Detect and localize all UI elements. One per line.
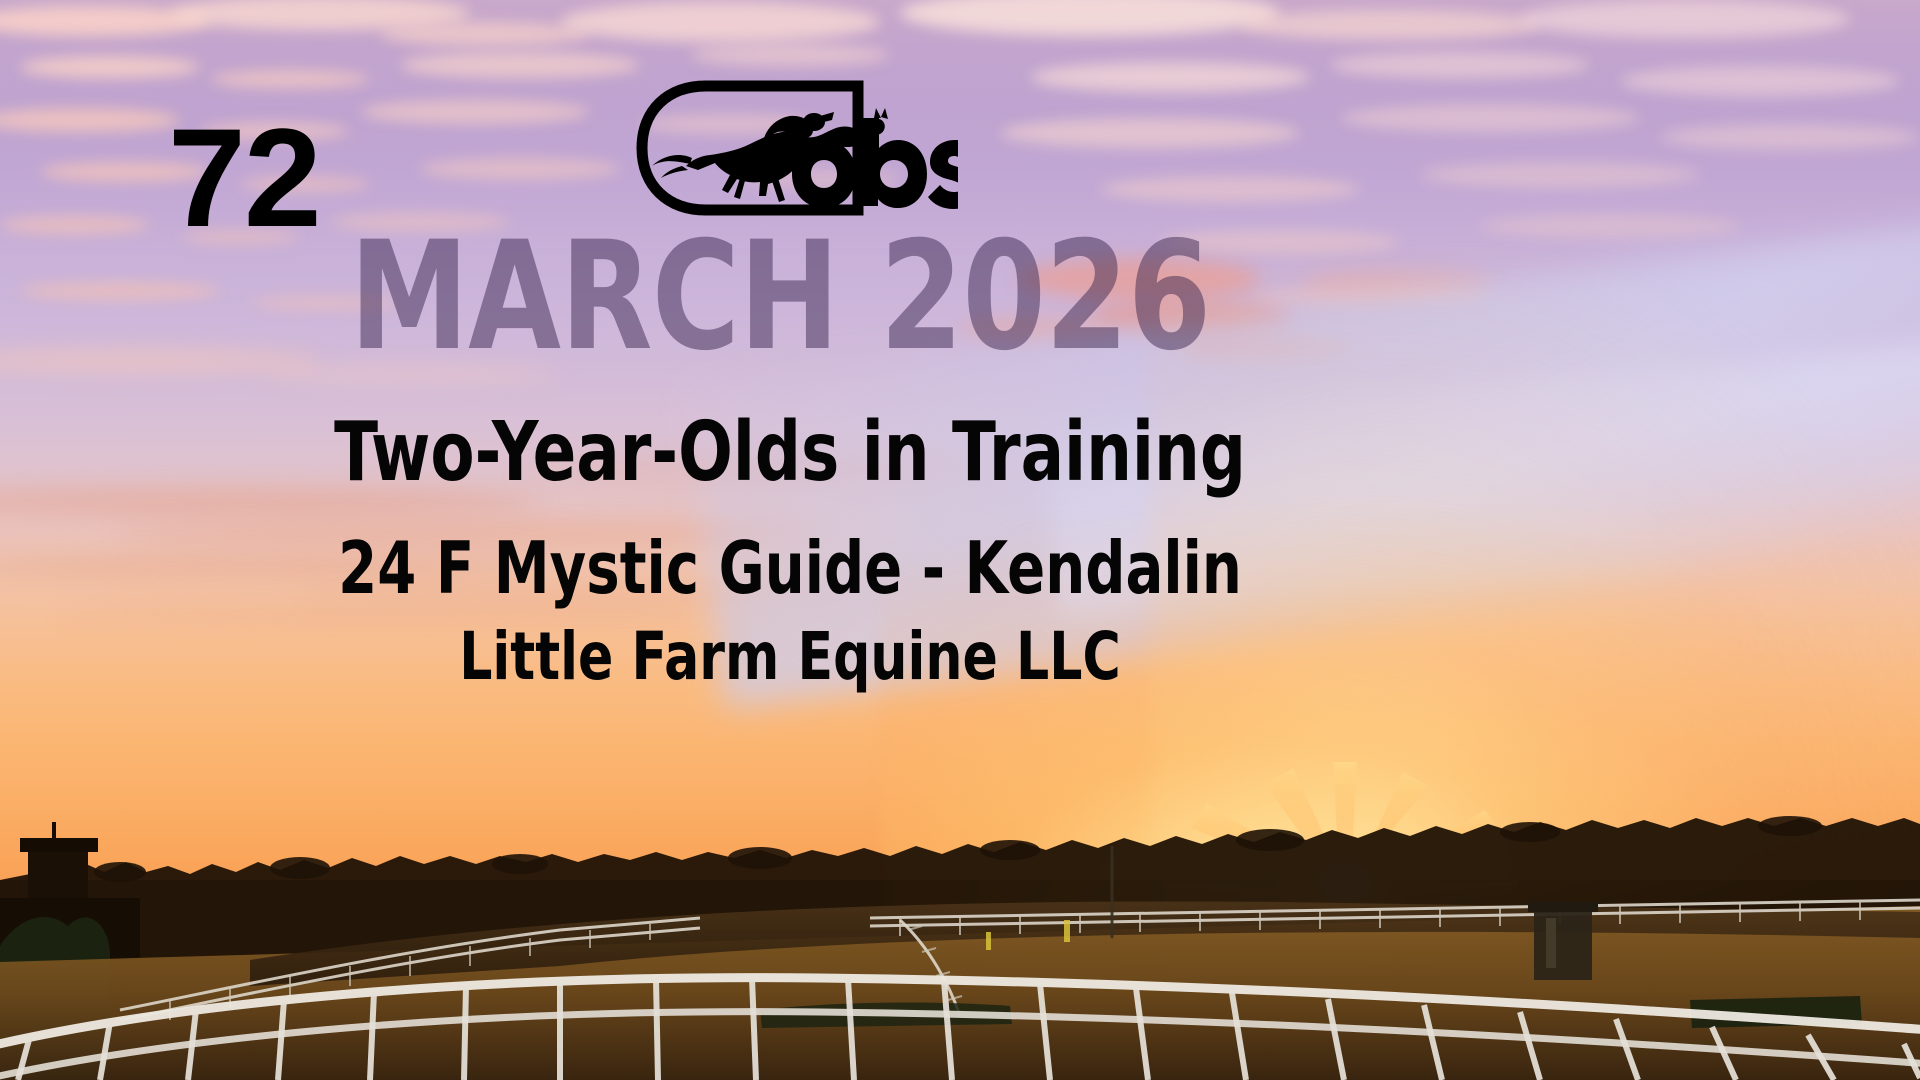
sale-month-year: MARCH 2026 [156,222,1404,372]
obs-logo [628,78,958,218]
pedigree-line: 24 F Mystic Guide - Kendalin [174,532,1406,604]
consignor-name: Little Farm Equine LLC [166,624,1414,690]
judges-box [1528,902,1598,980]
sale-type-title: Two-Year-Olds in Training [170,412,1410,494]
sale-slide: 72 [0,0,1920,1080]
obs-wordmark [792,118,958,209]
